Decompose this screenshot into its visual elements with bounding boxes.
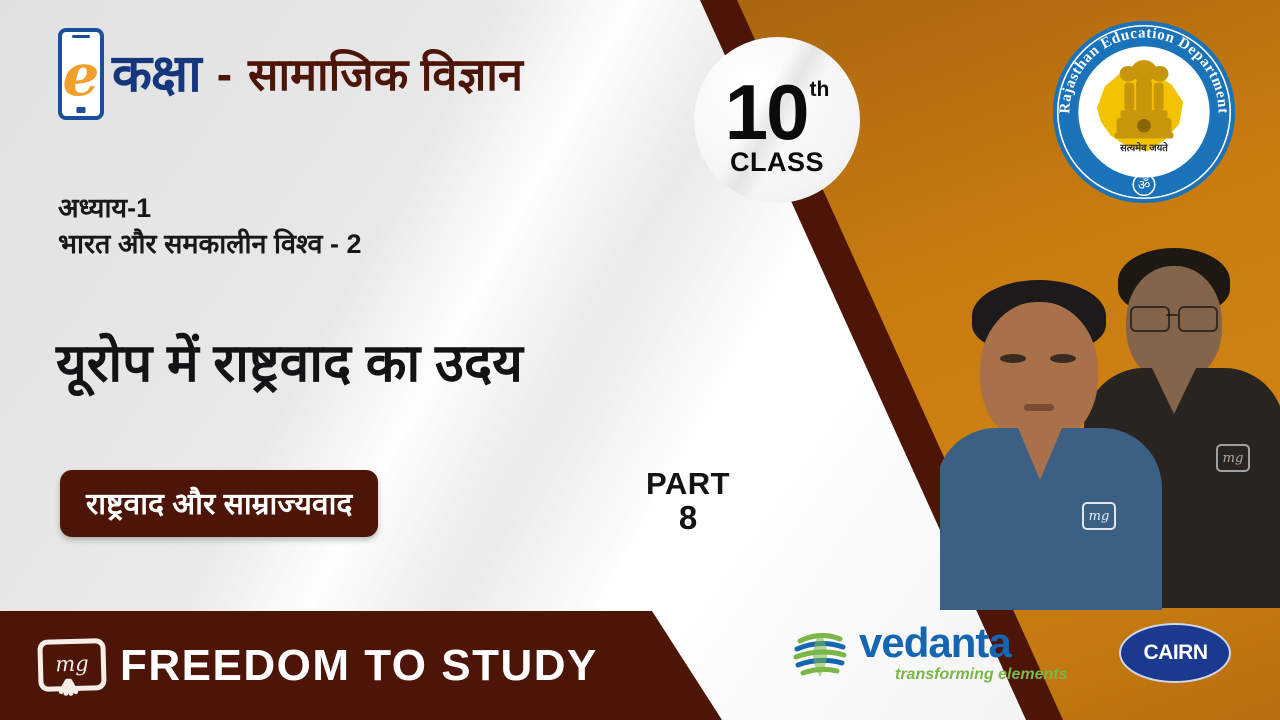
vedanta-tagline: transforming elements [895,667,1067,683]
instructor-two-collar [1152,368,1196,414]
class-word-label: CLASS [730,147,824,178]
page-title: यूरोप में राष्ट्रवाद का उदय [56,334,523,395]
seal-motto: सत्यमेव जयते [1119,142,1168,154]
instructors-photo: mg mg [940,238,1280,610]
part-indicator: PART 8 [646,468,730,535]
vedanta-text: vedanta transforming elements [859,622,1067,683]
brand-logo-row: e कक्षा - सामाजिक विज्ञान [58,28,523,120]
part-label: PART [646,468,730,501]
cairn-logo: CAIRN [1119,623,1231,683]
title-card: mg mg e कक्षा - सामाजिक विज्ञान 10 th CL… [0,0,1280,720]
class-ordinal-suffix: th [809,79,829,100]
glasses-bridge-icon [1166,314,1178,316]
instructor-one-head [980,302,1098,444]
sponsor-logos: vedanta transforming elements CAIRN [790,622,1231,683]
chapter-number: अध्याय-1 [58,192,362,226]
mg-logo-icon: mg [34,635,102,697]
instructor-two-mg-badge: mg [1216,444,1250,472]
instructor-one-mg-badge: mg [1082,502,1116,530]
class-number-wrap: 10 th [725,73,830,151]
seal-bottom-symbol: ॐ [1138,177,1151,192]
glasses-right-lens-icon [1178,306,1218,332]
class-number: 10 [725,73,808,151]
phone-icon: e [58,28,104,120]
brand-separator: - [217,51,232,97]
instructor-one-eye-left [1000,354,1026,363]
footer-tagline: FREEDOM TO STUDY [120,641,598,691]
brand-name-hindi: कक्षा [112,48,201,100]
footer-banner: mg FREEDOM TO STUDY [0,611,722,720]
glasses-left-lens-icon [1130,306,1170,332]
cairn-name: CAIRN [1143,641,1207,665]
subject-name: सामाजिक विज्ञान [248,52,523,97]
vedanta-name: vedanta [859,622,1067,664]
topic-badge: राष्ट्रवाद और साम्राज्यवाद [60,470,378,537]
mg-monogram: mg [55,653,89,675]
vedanta-logo: vedanta transforming elements [790,622,1067,683]
class-badge: 10 th CLASS [694,37,860,203]
instructor-one-eye-right [1050,354,1076,363]
part-number: 8 [646,501,730,536]
chapter-info: अध्याय-1 भारत और समकालीन विश्व - 2 [58,192,362,262]
brand-e-letter: e [63,46,100,104]
vedanta-globe-icon [790,623,850,683]
instructor-one-collar [1018,428,1062,480]
book-title: भारत और समकालीन विश्व - 2 [58,228,362,262]
rajasthan-education-department-seal: Rajasthan Education Department सत्यमेव ज… [1046,14,1242,210]
instructor-one-mouth [1024,404,1054,411]
